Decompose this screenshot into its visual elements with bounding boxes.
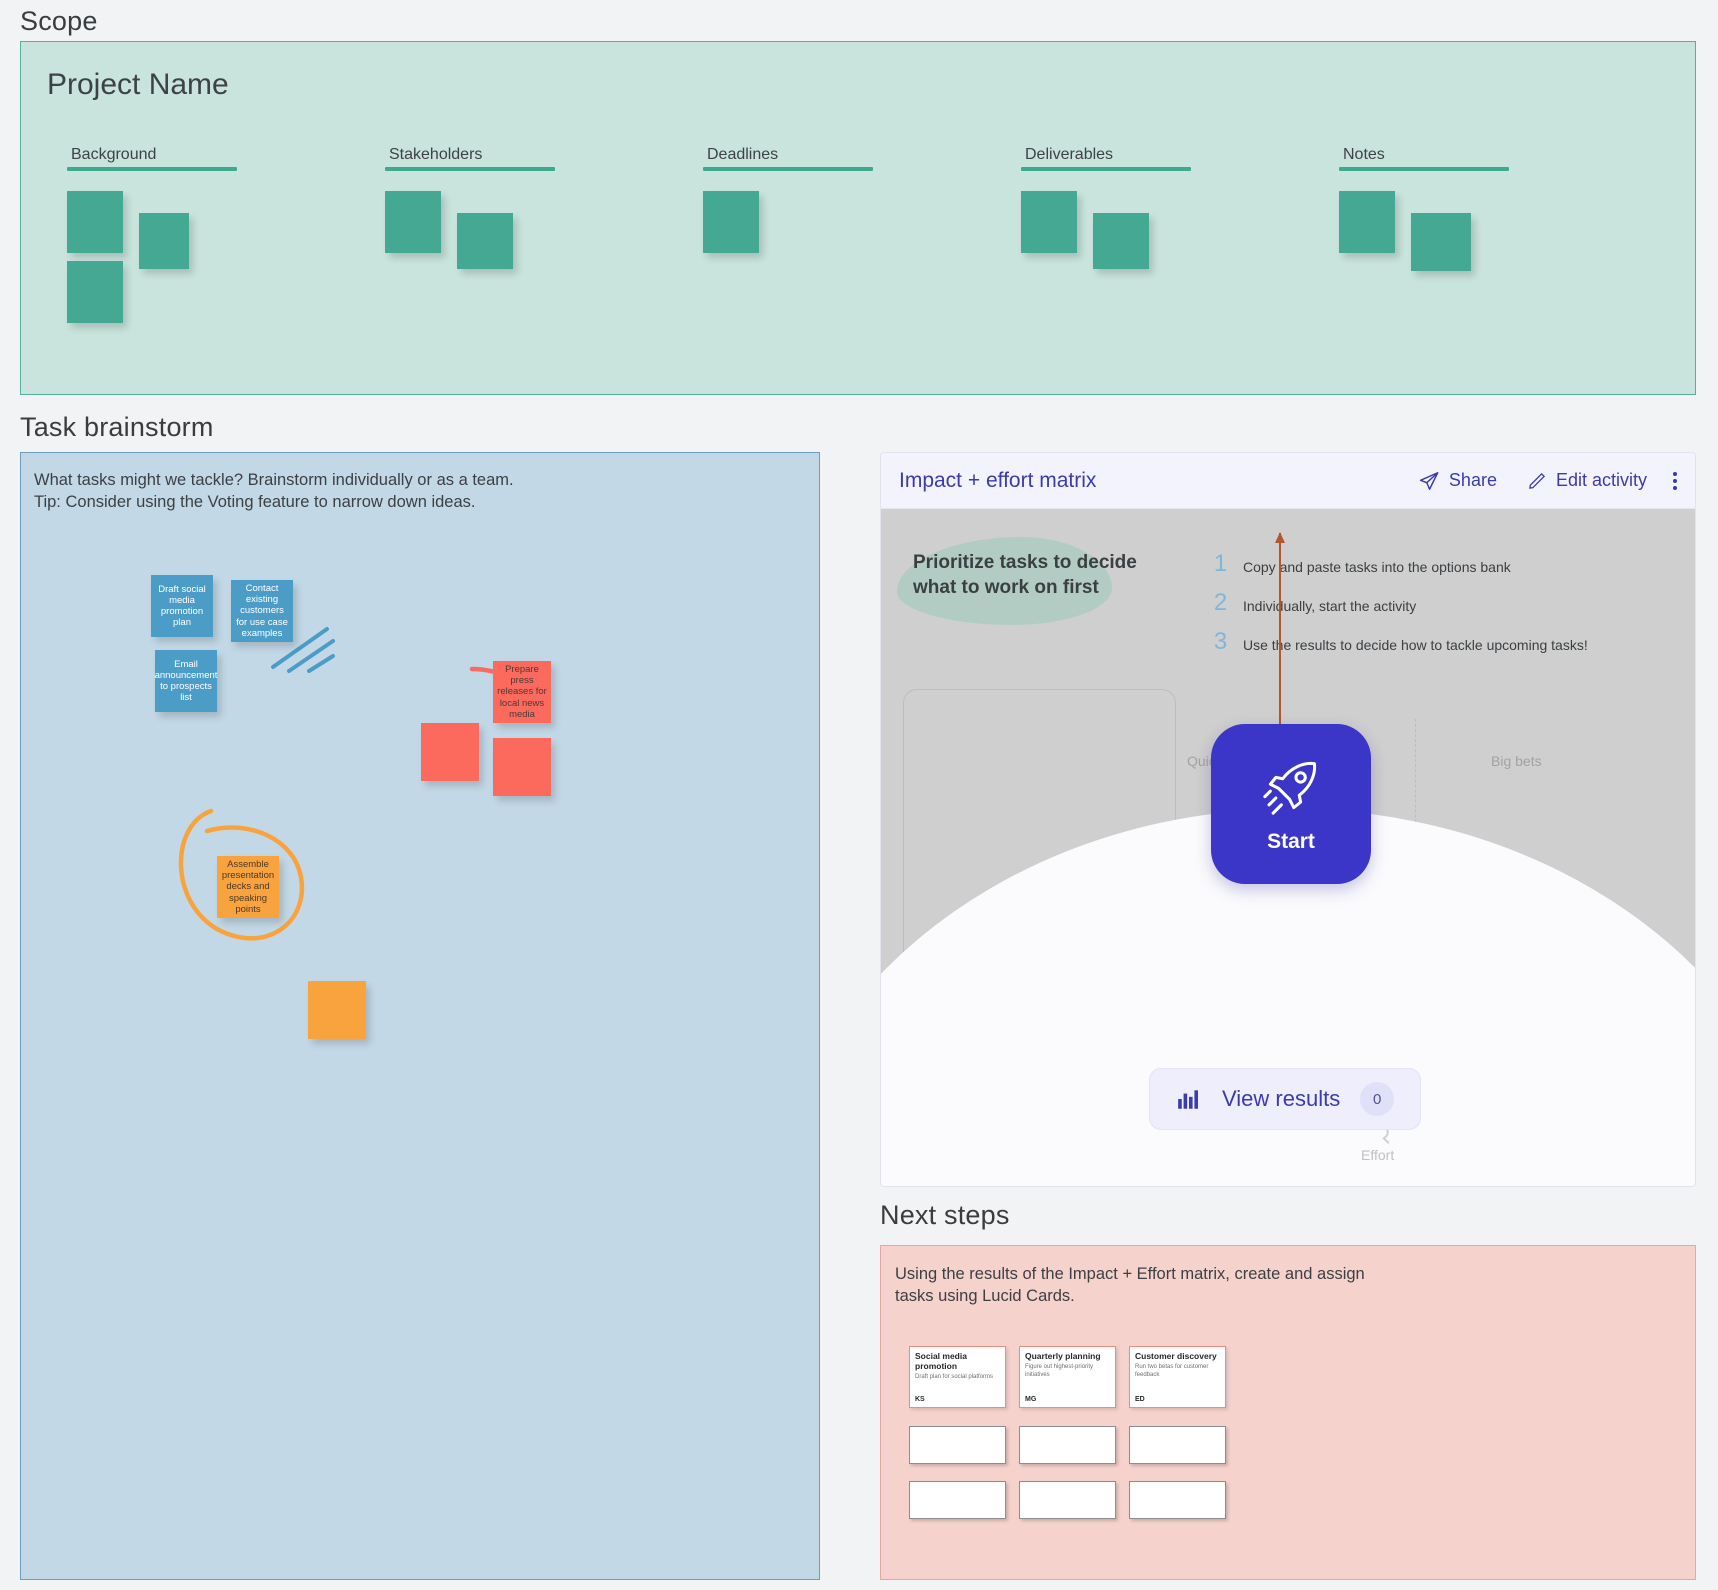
scope-column-stakeholders: Stakeholders <box>385 146 555 341</box>
scope-note-group <box>1021 191 1191 341</box>
matrix-step-text: Use the results to decide how to tackle … <box>1243 631 1588 653</box>
scope-column-label: Stakeholders <box>385 146 555 167</box>
sticky-note-red[interactable]: Prepare press releases for local news me… <box>493 661 551 723</box>
lucid-card-description: Run two betas for customer feedback <box>1135 1364 1220 1379</box>
next-steps-panel: Using the results of the Impact + Effort… <box>880 1245 1696 1580</box>
view-results-count-badge: 0 <box>1360 1082 1394 1116</box>
scope-column-deadlines: Deadlines <box>703 146 873 341</box>
lucid-card-title: Social media promotion <box>915 1351 1000 1371</box>
scope-column-notes: Notes <box>1339 146 1509 341</box>
sticky-note-orange[interactable] <box>308 981 366 1039</box>
matrix-step: 3Use the results to decide how to tackle… <box>1211 631 1588 654</box>
whiteboard-canvas: Scope Project Name BackgroundStakeholder… <box>0 0 1718 1590</box>
scope-column-underline <box>385 167 555 171</box>
next-steps-description: Using the results of the Impact + Effort… <box>895 1263 1365 1307</box>
matrix-step-number: 1 <box>1211 553 1230 576</box>
lucid-card-title: Quarterly planning <box>1025 1351 1110 1361</box>
matrix-step-number: 3 <box>1211 631 1230 654</box>
scope-column-label: Notes <box>1339 146 1509 167</box>
lucid-card-title: Customer discovery <box>1135 1351 1220 1361</box>
scope-heading: Scope <box>20 6 98 37</box>
start-label: Start <box>1267 830 1315 854</box>
scope-column-deliverables: Deliverables <box>1021 146 1191 341</box>
lucid-card[interactable]: Customer discoveryRun two betas for cust… <box>1129 1346 1226 1408</box>
matrix-callout-text: Prioritize tasks to decide what to work … <box>913 551 1143 600</box>
share-icon <box>1418 470 1440 492</box>
sticky-note[interactable] <box>1339 191 1395 253</box>
bar-chart-icon <box>1176 1086 1202 1112</box>
lucid-card-empty-slot[interactable] <box>909 1481 1006 1519</box>
sticky-note-orange[interactable]: Assemble presentation decks and speaking… <box>217 856 279 918</box>
lucid-card[interactable]: Social media promotionDraft plan for soc… <box>909 1346 1006 1408</box>
scope-note-group <box>703 191 873 341</box>
share-label: Share <box>1449 470 1497 491</box>
rocket-icon <box>1258 754 1324 820</box>
task-brainstorm-heading: Task brainstorm <box>20 412 214 443</box>
scope-column-label: Deliverables <box>1021 146 1191 167</box>
view-results-button[interactable]: View results 0 <box>1149 1068 1421 1130</box>
lucid-card[interactable]: Quarterly planningFigure out highest-pri… <box>1019 1346 1116 1408</box>
sticky-note[interactable] <box>385 191 441 253</box>
sticky-note[interactable] <box>67 191 123 253</box>
lucid-card-description: Draft plan for social platforms <box>915 1374 1000 1382</box>
scope-column-label: Background <box>67 146 237 167</box>
quadrant-label: Big bets <box>1491 753 1542 769</box>
lucid-card-description: Figure out highest-priority initiatives <box>1025 1364 1110 1379</box>
scope-column-underline <box>703 167 873 171</box>
sticky-note[interactable] <box>703 191 759 253</box>
edit-activity-button[interactable]: Edit activity <box>1527 470 1647 491</box>
pencil-icon <box>1527 471 1547 491</box>
next-steps-heading: Next steps <box>880 1200 1010 1231</box>
brainstorm-annotations <box>21 453 821 1581</box>
lucid-card-empty-slot[interactable] <box>1129 1481 1226 1519</box>
lucid-card-empty-slot[interactable] <box>1019 1426 1116 1464</box>
lucid-card-empty-slot[interactable] <box>909 1426 1006 1464</box>
edit-activity-label: Edit activity <box>1556 470 1647 491</box>
sticky-note[interactable] <box>1093 213 1149 269</box>
next-steps-description-line-1: Using the results of the Impact + Effort… <box>895 1263 1365 1285</box>
sticky-note[interactable] <box>457 213 513 269</box>
view-results-label: View results <box>1222 1086 1340 1112</box>
scope-column-underline <box>1021 167 1191 171</box>
task-brainstorm-panel: What tasks might we tackle? Brainstorm i… <box>20 452 820 1580</box>
scope-note-group <box>67 191 237 341</box>
matrix-step-text: Individually, start the activity <box>1243 592 1416 614</box>
project-name-title: Project Name <box>47 68 229 102</box>
lucid-card-owner: KS <box>915 1396 925 1403</box>
sticky-note-blue[interactable]: Draft social media promotion plan <box>151 575 213 637</box>
matrix-step-number: 2 <box>1211 592 1230 615</box>
matrix-step: 2Individually, start the activity <box>1211 592 1588 615</box>
next-steps-description-line-2: tasks using Lucid Cards. <box>895 1285 1365 1307</box>
sticky-note[interactable] <box>1021 191 1077 253</box>
sticky-note[interactable] <box>67 261 123 323</box>
scope-column-underline <box>67 167 237 171</box>
sticky-note-red[interactable] <box>493 738 551 796</box>
matrix-step-text: Copy and paste tasks into the options ba… <box>1243 553 1511 575</box>
matrix-step: 1Copy and paste tasks into the options b… <box>1211 553 1588 576</box>
lucid-card-empty-slot[interactable] <box>1129 1426 1226 1464</box>
matrix-body: Prioritize tasks to decide what to work … <box>881 509 1695 1187</box>
scope-note-group <box>1339 191 1509 341</box>
effort-axis-label: Effort <box>1361 1147 1394 1163</box>
scope-note-group <box>385 191 555 341</box>
lucid-card-owner: MG <box>1025 1396 1036 1403</box>
share-button[interactable]: Share <box>1418 470 1497 492</box>
scope-column-background: Background <box>67 146 237 341</box>
sticky-note-blue[interactable]: Contact existing customers for use case … <box>231 580 293 642</box>
scope-column-underline <box>1339 167 1509 171</box>
matrix-step-list: 1Copy and paste tasks into the options b… <box>1211 553 1588 669</box>
sticky-note-blue[interactable]: Email announcement to prospects list <box>155 650 217 712</box>
sticky-note[interactable] <box>139 213 189 269</box>
matrix-header: Impact + effort matrix Share Edit activi… <box>881 453 1695 509</box>
sticky-note-red[interactable] <box>421 723 479 781</box>
matrix-title: Impact + effort matrix <box>899 469 1388 493</box>
more-options-icon[interactable] <box>1673 472 1677 490</box>
sticky-note[interactable] <box>1411 213 1471 271</box>
scope-column-label: Deadlines <box>703 146 873 167</box>
impact-effort-matrix-card: Impact + effort matrix Share Edit activi… <box>880 452 1696 1187</box>
lucid-card-empty-slot[interactable] <box>1019 1481 1116 1519</box>
lucid-card-owner: ED <box>1135 1396 1145 1403</box>
scope-panel: Project Name BackgroundStakeholdersDeadl… <box>20 41 1696 395</box>
start-button[interactable]: Start <box>1211 724 1371 884</box>
